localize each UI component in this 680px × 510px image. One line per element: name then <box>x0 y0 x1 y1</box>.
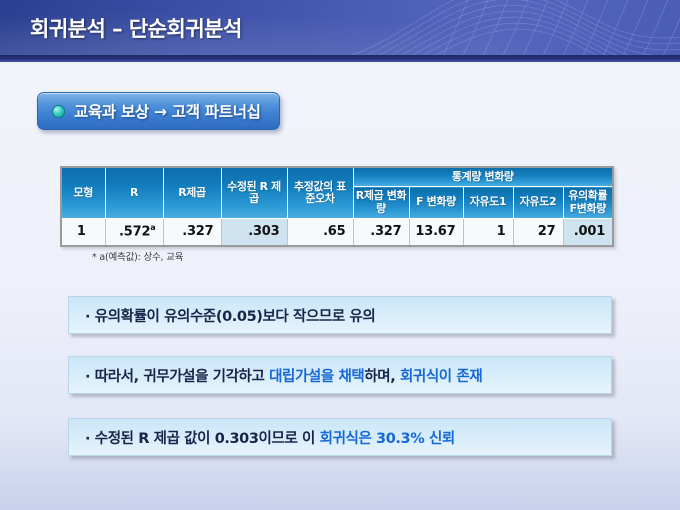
highlighted-text: 회귀식이 존재 <box>400 369 482 385</box>
highlighted-text: 대립가설을 채택 <box>269 369 364 385</box>
cell-df1: 1 <box>463 218 513 246</box>
table-row: 1 .572a .327 .303 .65 .327 13.67 1 27 .0… <box>61 218 613 246</box>
col-header-model: 모형 <box>61 167 105 218</box>
cell-r-superscript: a <box>150 223 155 232</box>
cell-model: 1 <box>61 218 105 246</box>
plain-text: · 따라서, 귀무가설을 기각하고 <box>85 369 269 385</box>
col-header-f-change: F 변화량 <box>409 187 463 219</box>
model-summary-table-wrapper: 모형 R R제곱 수정된 R 제곱 추정값의 표준오차 통계량 변화량 R제곱 … <box>60 166 612 247</box>
col-header-df2: 자유도2 <box>513 187 563 219</box>
col-header-sig-f-change: 유의확률 F변화량 <box>563 187 613 219</box>
col-header-r: R <box>105 167 163 218</box>
section-label-text: 교육과 보상 → 고객 파트너십 <box>74 100 261 122</box>
cell-r-square-change: .327 <box>353 218 409 246</box>
circle-bullet-icon <box>52 105 65 118</box>
cell-sig-f-change: .001 <box>563 218 613 246</box>
page-title: 회귀분석 – 단순회귀분석 <box>30 13 242 43</box>
col-header-adjusted-r-square: 수정된 R 제곱 <box>221 167 287 218</box>
cell-std-error: .65 <box>287 218 353 246</box>
callout-box-3: · 수정된 R 제곱 값이 0.303이므로 이 회귀식은 30.3% 신뢰 <box>68 418 612 456</box>
callout-text-1: · 유의확률이 유의수준(0.05)보다 작으므로 유의 <box>85 305 375 326</box>
cell-f-change: 13.67 <box>409 218 463 246</box>
col-group-header-statistics-change: 통계량 변화량 <box>353 167 613 187</box>
highlighted-text: 회귀식은 30.3% 신뢰 <box>320 431 455 447</box>
cell-df2: 27 <box>513 218 563 246</box>
cell-r-square: .327 <box>163 218 221 246</box>
plain-text: · 유의확률이 유의수준(0.05)보다 작으므로 유의 <box>85 309 375 325</box>
plain-text: 하며, <box>364 369 400 385</box>
slide-header: 회귀분석 – 단순회귀분석 <box>0 0 680 62</box>
callout-text-2: · 따라서, 귀무가설을 기각하고 대립가설을 채택하며, 회귀식이 존재 <box>85 365 482 386</box>
callout-box-1: · 유의확률이 유의수준(0.05)보다 작으므로 유의 <box>68 296 612 334</box>
col-header-r-square-change: R제곱 변화량 <box>353 187 409 219</box>
cell-r-value: .572 <box>119 225 150 240</box>
col-header-std-error: 추정값의 표준오차 <box>287 167 353 218</box>
model-summary-table: 모형 R R제곱 수정된 R 제곱 추정값의 표준오차 통계량 변화량 R제곱 … <box>60 166 614 247</box>
plain-text: · 수정된 R 제곱 값이 0.303이므로 이 <box>85 431 320 447</box>
col-header-df1: 자유도1 <box>463 187 513 219</box>
section-label-pill[interactable]: 교육과 보상 → 고객 파트너십 <box>37 92 280 130</box>
callout-box-2: · 따라서, 귀무가설을 기각하고 대립가설을 채택하며, 회귀식이 존재 <box>68 356 612 394</box>
callout-text-3: · 수정된 R 제곱 값이 0.303이므로 이 회귀식은 30.3% 신뢰 <box>85 427 455 448</box>
header-underline <box>0 55 680 62</box>
col-header-r-square: R제곱 <box>163 167 221 218</box>
cell-adjusted-r-square: .303 <box>221 218 287 246</box>
table-footnote: * a(예측값): 상수, 교육 <box>92 249 183 263</box>
table-header-row-top: 모형 R R제곱 수정된 R 제곱 추정값의 표준오차 통계량 변화량 <box>61 167 613 187</box>
cell-r: .572a <box>105 218 163 246</box>
